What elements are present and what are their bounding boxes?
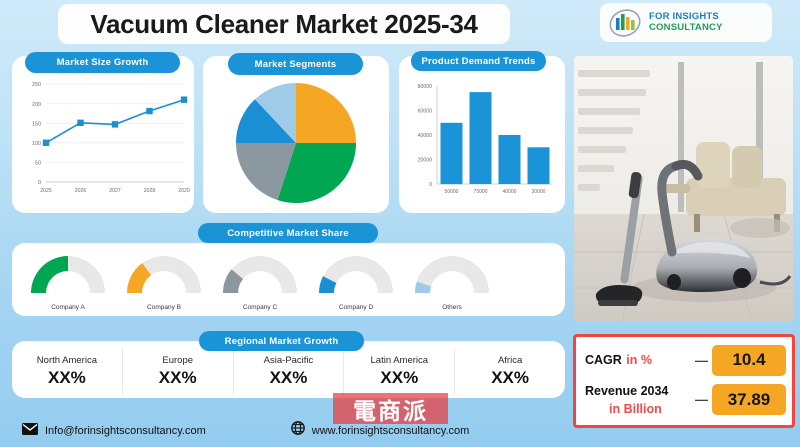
page-title-card: Vacuum Cleaner Market 2025-34 bbox=[58, 4, 510, 44]
region-cell-2: EuropeXX% bbox=[123, 348, 234, 395]
svg-text:40000: 40000 bbox=[418, 133, 433, 139]
footer-website-text: www.forinsightsconsultancy.com bbox=[312, 425, 470, 437]
page-title: Vacuum Cleaner Market 2025-34 bbox=[90, 9, 477, 40]
vacuum-cleaner-photo bbox=[574, 56, 793, 322]
market-size-growth-title: Market Size Growth bbox=[25, 52, 180, 73]
kpi-revenue-dash: — bbox=[695, 392, 708, 407]
svg-text:2028: 2028 bbox=[144, 188, 156, 194]
brand-logo: FOR INSIGHTS CONSULTANCY bbox=[600, 3, 772, 42]
gauge-label-4: Company D bbox=[339, 304, 373, 311]
svg-text:2025: 2025 bbox=[40, 188, 52, 194]
brand-line-2: CONSULTANCY bbox=[649, 23, 723, 33]
kpi-cagr-label: CAGR in % bbox=[585, 351, 691, 369]
region-value-1: XX% bbox=[48, 368, 86, 388]
gauge-label-1: Company A bbox=[51, 304, 85, 311]
region-value-5: XX% bbox=[491, 368, 529, 388]
svg-text:2027: 2027 bbox=[109, 188, 121, 194]
svg-text:50000: 50000 bbox=[445, 189, 459, 195]
region-name-3: Asia-Pacific bbox=[264, 355, 314, 366]
svg-text:150: 150 bbox=[32, 121, 41, 127]
svg-text:20000: 20000 bbox=[418, 158, 433, 164]
gauge-arc-5 bbox=[404, 251, 500, 300]
svg-text:2026: 2026 bbox=[75, 188, 87, 194]
svg-text:30000: 30000 bbox=[532, 189, 546, 195]
region-value-4: XX% bbox=[380, 368, 418, 388]
footer-email[interactable]: Info@forinsightsconsultancy.com bbox=[22, 422, 206, 440]
kpi-cagr-dash: — bbox=[695, 353, 708, 368]
gauge-label-5: Others bbox=[442, 304, 462, 311]
kpi-cagr-label-main: CAGR bbox=[585, 353, 622, 367]
svg-text:250: 250 bbox=[32, 82, 41, 88]
kpi-revenue-label-main: Revenue 2034 bbox=[585, 384, 668, 398]
region-name-5: Africa bbox=[498, 355, 522, 366]
svg-text:2029: 2029 bbox=[178, 188, 190, 194]
competitive-share-title: Competitive Market Share bbox=[198, 223, 378, 243]
kpi-revenue-label: Revenue 2034 in Billion bbox=[585, 382, 691, 418]
gauge-5: Others bbox=[404, 251, 500, 311]
svg-text:40000: 40000 bbox=[503, 189, 517, 195]
kpi-row-cagr: CAGR in % — 10.4 bbox=[585, 345, 786, 376]
gauge-4: Company D bbox=[308, 251, 404, 311]
product-demand-title: Product Demand Trends bbox=[411, 51, 546, 71]
kpi-cagr-label-sub: in % bbox=[626, 353, 652, 367]
svg-text:80000: 80000 bbox=[418, 84, 433, 90]
svg-text:0: 0 bbox=[38, 180, 41, 186]
market-size-growth-chart: 05010015020025020252026202720282029 bbox=[12, 74, 194, 206]
kpi-cagr-value: 10.4 bbox=[712, 345, 786, 376]
region-cell-1: North AmericaXX% bbox=[12, 348, 123, 395]
gauge-1: Company A bbox=[20, 251, 116, 311]
gauge-arc-1 bbox=[20, 251, 116, 300]
gauge-3: Company C bbox=[212, 251, 308, 311]
svg-text:100: 100 bbox=[32, 141, 41, 147]
footer-email-text: Info@forinsightsconsultancy.com bbox=[45, 425, 206, 437]
region-cell-5: AfricaXX% bbox=[455, 348, 565, 395]
gauge-arc-2 bbox=[116, 251, 212, 300]
brand-name: FOR INSIGHTS CONSULTANCY bbox=[649, 12, 723, 33]
gauge-label-2: Company B bbox=[147, 304, 181, 311]
region-value-2: XX% bbox=[159, 368, 197, 388]
market-segments-title: Market Segments bbox=[228, 53, 363, 75]
envelope-icon bbox=[22, 422, 38, 440]
regional-growth-values: North AmericaXX%EuropeXX%Asia-PacificXX%… bbox=[12, 348, 565, 395]
svg-text:75000: 75000 bbox=[474, 189, 488, 195]
bar-chart-logo-icon bbox=[608, 8, 642, 38]
svg-text:60000: 60000 bbox=[418, 109, 433, 115]
gauge-arc-3 bbox=[212, 251, 308, 300]
kpi-row-revenue: Revenue 2034 in Billion — 37.89 bbox=[585, 382, 786, 418]
globe-icon bbox=[291, 421, 305, 440]
infographic-root: Vacuum Cleaner Market 2025-34 FOR INSIGH… bbox=[0, 0, 800, 447]
svg-text:50: 50 bbox=[35, 161, 41, 167]
kpi-revenue-value: 37.89 bbox=[712, 384, 786, 415]
region-name-1: North America bbox=[37, 355, 97, 366]
market-segments-chart bbox=[233, 80, 359, 206]
svg-text:0: 0 bbox=[429, 182, 432, 188]
product-demand-chart: 0200004000060000800005000075000400003000… bbox=[399, 74, 565, 206]
svg-text:200: 200 bbox=[32, 102, 41, 108]
competitive-share-gauges: Company ACompany BCompany CCompany DOthe… bbox=[20, 249, 557, 311]
gauge-arc-4 bbox=[308, 251, 404, 300]
regional-growth-title: Regional Market Growth bbox=[199, 331, 364, 351]
gauge-label-3: Company C bbox=[243, 304, 277, 311]
watermark: 電商派 bbox=[333, 393, 448, 424]
region-cell-3: Asia-PacificXX% bbox=[234, 348, 345, 395]
region-value-3: XX% bbox=[270, 368, 308, 388]
gauge-2: Company B bbox=[116, 251, 212, 311]
region-cell-4: Latin AmericaXX% bbox=[344, 348, 455, 395]
region-name-2: Europe bbox=[162, 355, 193, 366]
brand-line-1: FOR INSIGHTS bbox=[649, 12, 723, 22]
region-name-4: Latin America bbox=[371, 355, 429, 366]
